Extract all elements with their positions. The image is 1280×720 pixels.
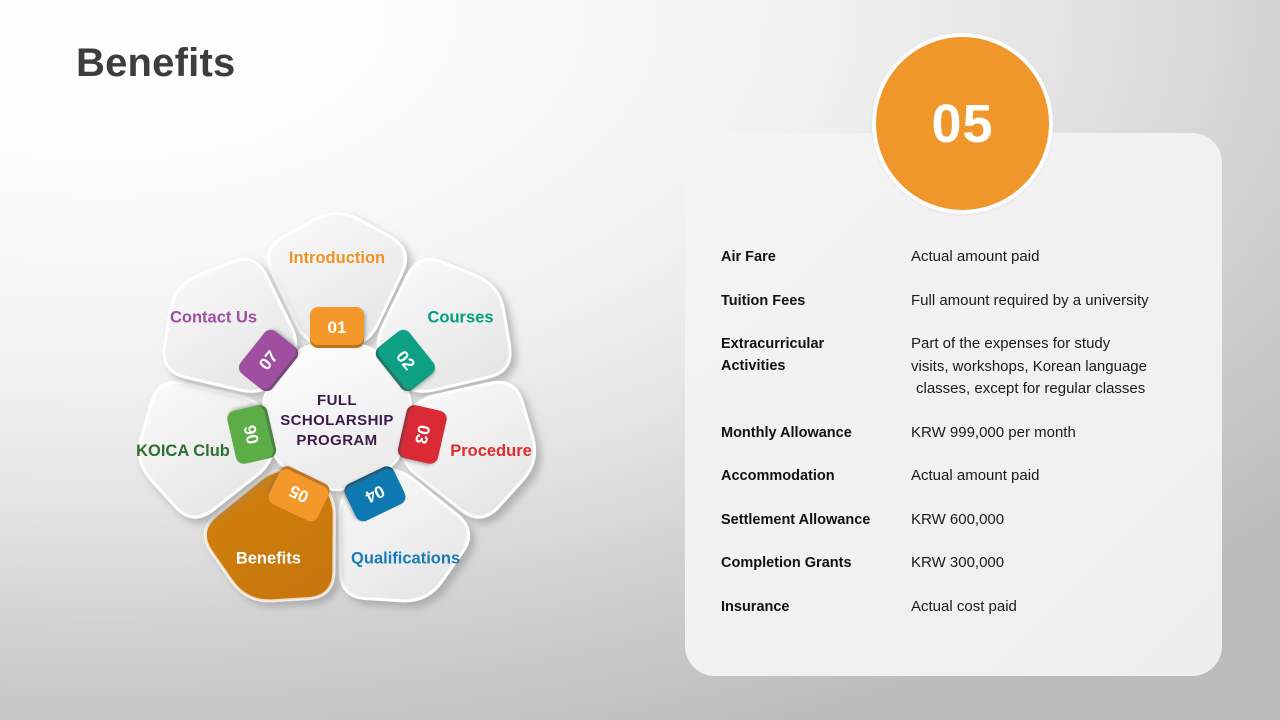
benefit-value-line: Actual cost paid — [911, 596, 1211, 619]
benefit-label-line: Settlement Allowance — [721, 509, 911, 531]
benefit-value: Actual amount paid — [911, 465, 1211, 488]
benefit-label-line: Insurance — [721, 596, 911, 618]
benefit-value: Part of the expenses for studyvisits, wo… — [911, 333, 1211, 401]
benefit-label-line: Accommodation — [721, 465, 911, 487]
petal-label-koica-club: KOICA Club — [136, 442, 230, 460]
benefit-value-line: KRW 999,000 per month — [911, 422, 1211, 445]
benefit-label-line: Extracurricular — [721, 333, 911, 355]
petal-label-qualifications: Qualifications — [351, 549, 460, 567]
benefit-label: Completion Grants — [721, 552, 911, 574]
benefit-label-line: Activities — [721, 355, 911, 377]
benefit-value: Full amount required by a university — [911, 290, 1211, 313]
slide-canvas: Benefits 05 Air FareActual amount paidTu… — [0, 0, 1280, 720]
benefit-label-line: Completion Grants — [721, 552, 911, 574]
benefit-label-line: Monthly Allowance — [721, 422, 911, 444]
benefit-value: KRW 300,000 — [911, 552, 1211, 575]
benefit-label: Settlement Allowance — [721, 509, 911, 531]
benefit-value-line: Actual amount paid — [911, 465, 1211, 488]
center-label-line: PROGRAM — [296, 432, 377, 449]
benefit-value: Actual cost paid — [911, 596, 1211, 619]
benefit-label: Accommodation — [721, 465, 911, 487]
benefit-value-line: visits, workshops, Korean language — [911, 356, 1211, 379]
benefit-value-line: KRW 300,000 — [911, 552, 1211, 575]
benefit-value-line: classes, except for regular classes — [911, 378, 1211, 401]
benefit-row: Settlement AllowanceKRW 600,000 — [721, 509, 1211, 532]
benefit-value-line: KRW 600,000 — [911, 509, 1211, 532]
petal-label-benefits: Benefits — [236, 549, 301, 567]
benefit-row: Tuition FeesFull amount required by a un… — [721, 290, 1211, 313]
petal-label-courses: Courses — [427, 309, 493, 327]
flower-navigation-diagram: FULLSCHOLARSHIPPROGRAM 01020304050607 In… — [55, 110, 615, 655]
page-title: Benefits — [76, 41, 235, 86]
benefit-value-line: Actual amount paid — [911, 246, 1211, 269]
benefit-value: KRW 999,000 per month — [911, 422, 1211, 445]
benefit-label-line: Air Fare — [721, 246, 911, 268]
benefit-value: KRW 600,000 — [911, 509, 1211, 532]
center-label-line: FULL — [317, 392, 357, 409]
benefit-row: Completion GrantsKRW 300,000 — [721, 552, 1211, 575]
benefit-value: Actual amount paid — [911, 246, 1211, 269]
center-label-line: SCHOLARSHIP — [280, 412, 394, 429]
benefit-row: AccommodationActual amount paid — [721, 465, 1211, 488]
petal-label-introduction: Introduction — [289, 249, 385, 267]
benefit-row: InsuranceActual cost paid — [721, 596, 1211, 619]
step-number-value: 05 — [931, 93, 993, 155]
benefit-value-line: Part of the expenses for study — [911, 333, 1211, 356]
benefit-label: ExtracurricularActivities — [721, 333, 911, 377]
benefit-row: Monthly AllowanceKRW 999,000 per month — [721, 422, 1211, 445]
petal-label-procedure: Procedure — [450, 442, 532, 460]
benefits-table: Air FareActual amount paidTuition FeesFu… — [721, 246, 1211, 618]
benefit-label: Tuition Fees — [721, 290, 911, 312]
benefit-value-line: Full amount required by a university — [911, 290, 1211, 313]
petal-label-contact-us: Contact Us — [170, 309, 257, 327]
benefit-row: Air FareActual amount paid — [721, 246, 1211, 269]
benefit-label-line: Tuition Fees — [721, 290, 911, 312]
benefit-label: Insurance — [721, 596, 911, 618]
step-number-badge: 05 — [872, 33, 1053, 214]
benefit-label: Monthly Allowance — [721, 422, 911, 444]
chip-01[interactable]: 01 — [310, 307, 364, 348]
benefit-label: Air Fare — [721, 246, 911, 268]
benefit-row: ExtracurricularActivitiesPart of the exp… — [721, 333, 1211, 401]
chip-number-text: 01 — [328, 318, 347, 337]
